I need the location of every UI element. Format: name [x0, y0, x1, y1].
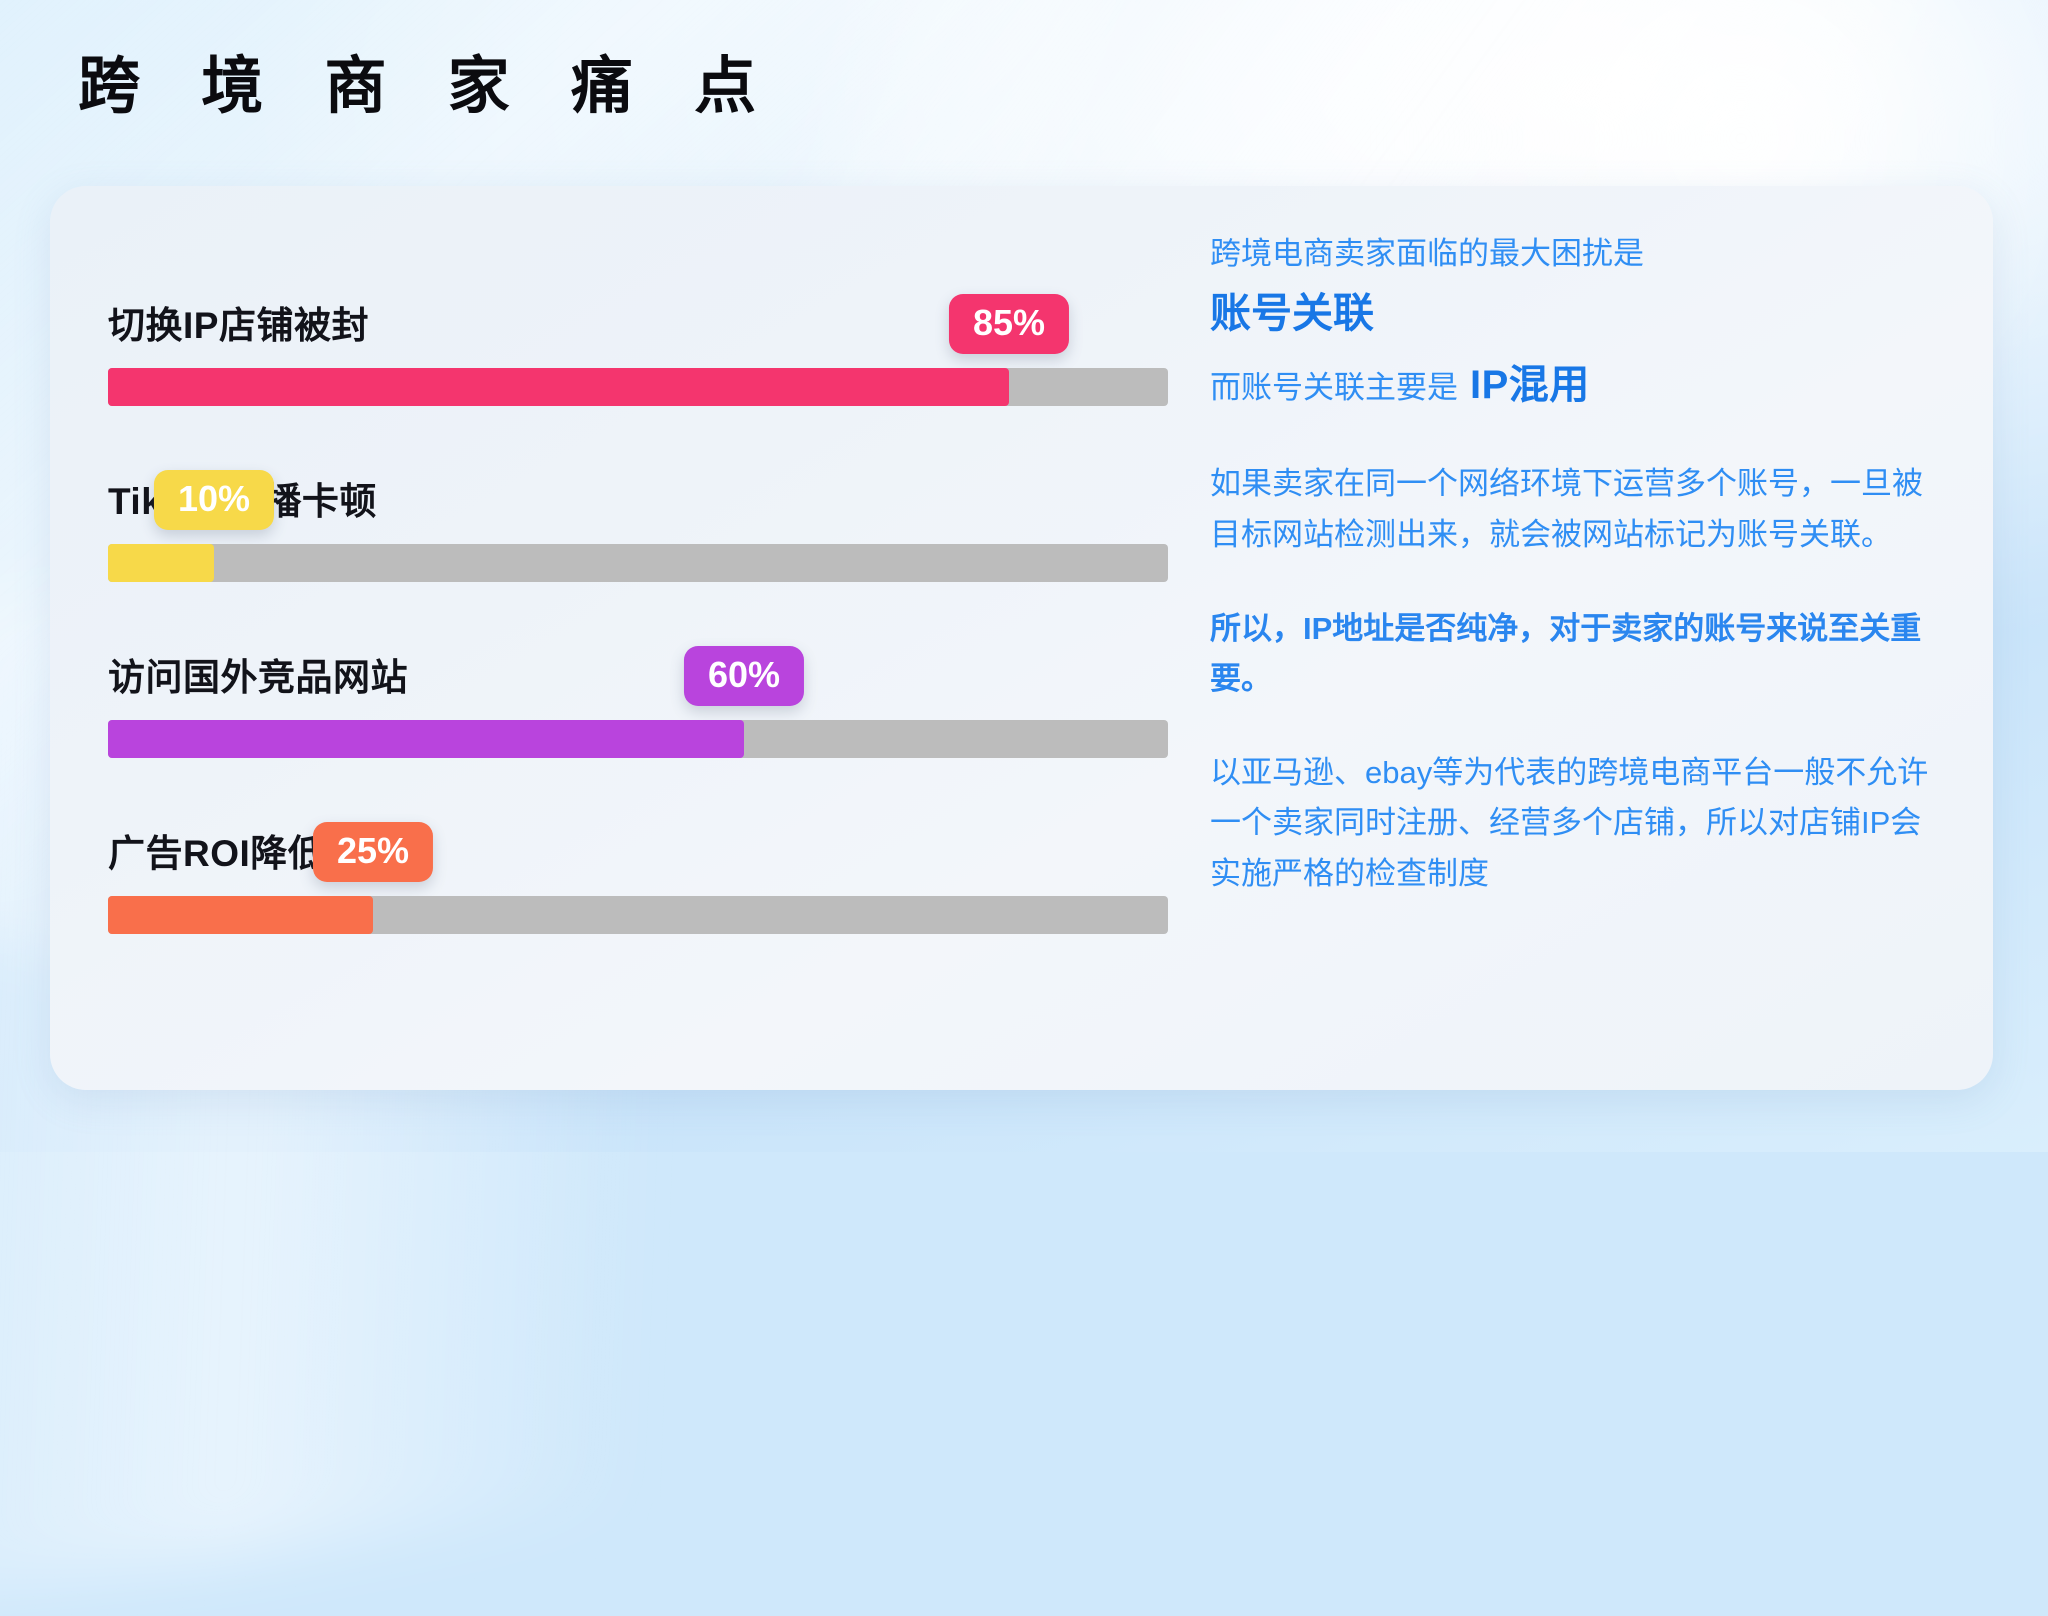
lead-mix-keyword: IP混用 [1470, 363, 1590, 407]
bar-track [108, 720, 1168, 758]
bar-header: 广告ROI降低25% [108, 776, 1168, 894]
bar-header: 访问国外竞品网站60% [108, 600, 1168, 718]
bar-row: 访问国外竞品网站60% [108, 600, 1168, 776]
lead-mix-prefix: 而账号关联主要是 [1210, 370, 1458, 405]
bar-header: TikTok直播卡顿10% [108, 424, 1168, 542]
bar-track [108, 896, 1168, 934]
bar-label: 广告ROI降低 [108, 835, 325, 872]
bar-value-badge: 10% [154, 470, 274, 530]
bar-row: 切换IP店铺被封85% [108, 248, 1168, 424]
paragraph-1: 如果卖家在同一个网络环境下运营多个账号，一旦被目标网站检测出来，就会被网站标记为… [1210, 459, 1950, 559]
bar-fill [108, 720, 744, 758]
pain-point-bar-chart: 切换IP店铺被封85%TikTok直播卡顿10%访问国外竞品网站60%广告ROI… [108, 248, 1168, 1038]
bar-value-badge: 85% [949, 294, 1069, 354]
lead-mix-line: 而账号关联主要是IP混用 [1210, 355, 1950, 415]
bar-row: 广告ROI降低25% [108, 776, 1168, 952]
page-title: 跨 境 商 家 痛 点 [78, 56, 778, 118]
bar-track [108, 368, 1168, 406]
bar-track [108, 544, 1168, 582]
paragraph-3: 以亚马逊、ebay等为代表的跨境电商平台一般不允许一个卖家同时注册、经营多个店铺… [1210, 748, 1950, 899]
bar-label: 访问国外竞品网站 [108, 659, 408, 696]
bar-fill [108, 896, 373, 934]
bar-value-badge: 25% [313, 822, 433, 882]
bar-value-badge: 60% [684, 646, 804, 706]
explanation-panel: 跨境电商卖家面临的最大困扰是 账号关联 而账号关联主要是IP混用 如果卖家在同一… [1210, 232, 1950, 899]
paragraph-2: 所以，IP地址是否纯净，对于卖家的账号来说至关重要。 [1210, 604, 1950, 704]
bar-fill [108, 544, 214, 582]
content-card: 切换IP店铺被封85%TikTok直播卡顿10%访问国外竞品网站60%广告ROI… [50, 186, 1993, 1090]
lead-keyword: 账号关联 [1210, 286, 1950, 341]
lead-line: 跨境电商卖家面临的最大困扰是 [1210, 232, 1950, 276]
bar-header: 切换IP店铺被封85% [108, 248, 1168, 366]
bar-row: TikTok直播卡顿10% [108, 424, 1168, 600]
bar-label: 切换IP店铺被封 [108, 307, 369, 344]
bar-fill [108, 368, 1009, 406]
